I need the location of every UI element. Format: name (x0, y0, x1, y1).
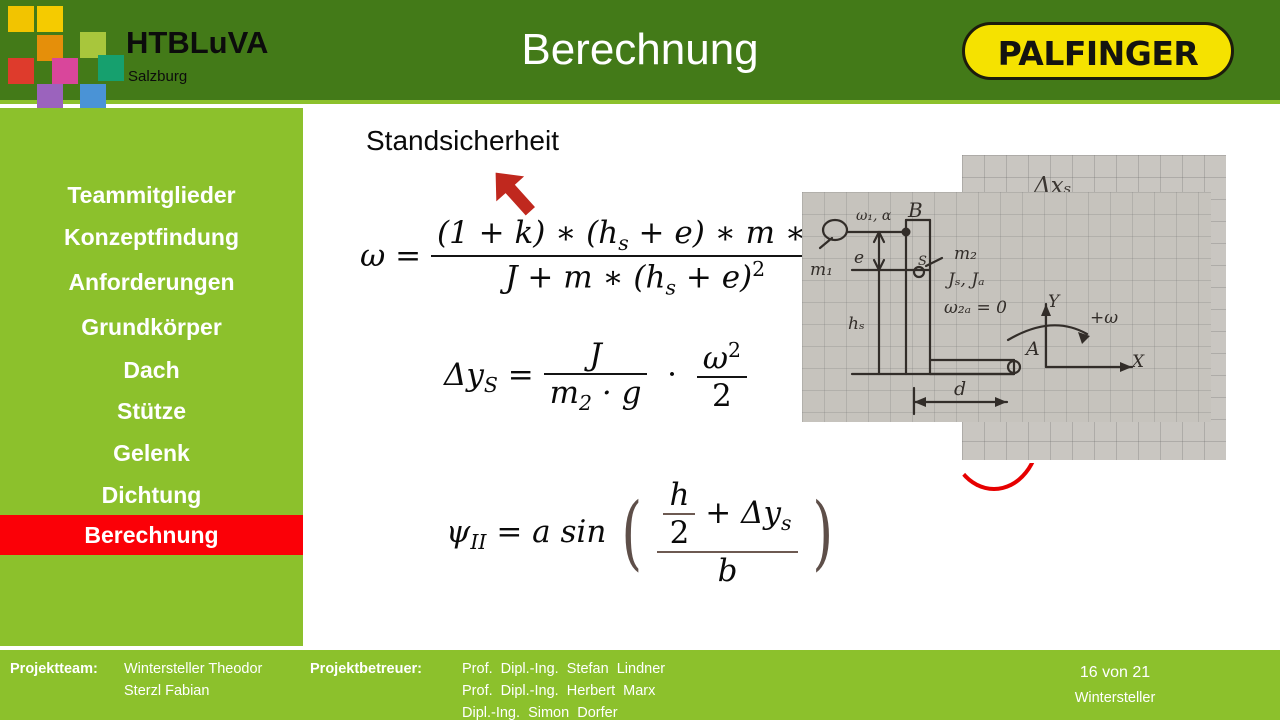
sketch-label-X: X (1132, 352, 1144, 372)
formula-omega-denominator: J + m ∗ (hs + e)2 (431, 255, 839, 300)
sketch-red-arc (947, 433, 1041, 491)
formula-delta-y-s-dot: · (657, 357, 687, 393)
sidebar-item-berechnung[interactable]: Berechnung (0, 515, 303, 555)
formula-omega-fraction: (1 + k) ∗ (hs + e) ∗ m ∗ v J + m ∗ (hs +… (431, 215, 839, 300)
supervisor-2: Prof. Dipl.-Ing. Herbert Marx (462, 680, 655, 702)
sketch-label-omega-1-alpha: ω₁, α (856, 208, 891, 224)
palfinger-logo-text: PALFINGER (965, 34, 1231, 73)
palfinger-logo: PALFINGER (962, 22, 1234, 80)
sketch-label-plus-omega: +ω (1090, 308, 1118, 328)
sidebar-item-dichtung[interactable]: Dichtung (0, 480, 303, 510)
formula-delta-y-s-numerator-2: ω2 (697, 338, 747, 376)
formula-psi-ii-two: 2 (663, 513, 695, 551)
sidebar-item-label: Gelenk (113, 440, 190, 466)
formula-omega: ω = (1 + k) ∗ (hs + e) ∗ m ∗ v J + m ∗ (… (360, 215, 839, 300)
sidebar-item-label: Dach (123, 357, 179, 383)
sidebar-item-label: Grundkörper (81, 314, 222, 340)
page-title: Berechnung (340, 24, 940, 76)
formula-psi-ii-outer-denominator: b (657, 551, 797, 589)
formula-psi-ii-inner-numerator: h 2 + Δys (657, 477, 797, 551)
sidebar-item-grundk-rper[interactable]: Grundkörper (0, 312, 303, 342)
sidebar-navigation: TeammitgliederKonzeptfindungAnforderunge… (0, 108, 303, 646)
page-number: 16 von 21 (1040, 662, 1190, 684)
formula-delta-y-s-lhs: ΔyS = (444, 357, 534, 393)
formula-delta-y-s-denominator-2: 2 (697, 376, 747, 414)
logo-square-purple (37, 84, 63, 110)
formula-delta-y-s-fraction-1: J m2 · g (544, 337, 648, 415)
sidebar-item-label: Konzeptfindung (64, 224, 239, 250)
section-heading: Standsicherheit (366, 124, 559, 158)
sketch-label-omega-2a: ω₂ₐ = 0 (944, 298, 1007, 318)
sidebar-item-konzeptfindung[interactable]: Konzeptfindung (0, 222, 303, 252)
sketch-label-Y: Y (1048, 292, 1059, 312)
formula-psi-ii: ψII = a sin ( h 2 + Δys b ) (446, 477, 839, 589)
formula-delta-y-s-denominator-1: m2 · g (544, 373, 648, 415)
sidebar-item-label: Dichtung (102, 482, 202, 508)
school-name: HTBLuVA (126, 26, 268, 60)
formula-psi-ii-paren-close: ) (813, 486, 834, 580)
projektbetreuer-label: Projektbetreuer: (310, 658, 422, 680)
sidebar-item-st-tze[interactable]: Stütze (0, 396, 303, 426)
projektteam-label: Projektteam: (10, 658, 98, 680)
formula-delta-y-s: ΔyS = J m2 · g · ω2 2 (444, 337, 747, 415)
header-underline (0, 100, 1280, 104)
sketch-label-e: e (854, 248, 864, 268)
formula-delta-y-s-numerator-1: J (544, 337, 648, 373)
htbluva-logo (8, 6, 120, 96)
sidebar-item-teammitglieder[interactable]: Teammitglieder (0, 180, 303, 210)
slide-footer: Projektteam:Wintersteller TheodorSterzl … (0, 650, 1280, 720)
team-member-2: Sterzl Fabian (124, 680, 209, 702)
formula-psi-ii-lhs: ψII = a sin (446, 514, 606, 550)
sidebar-item-label: Stütze (117, 398, 186, 424)
sketch-label-Js-Ja: Jₛ, Jₐ (948, 270, 985, 290)
sidebar-item-gelenk[interactable]: Gelenk (0, 438, 303, 468)
logo-square-magenta (52, 58, 78, 84)
formula-delta-y-s-fraction-2: ω2 2 (697, 338, 747, 414)
logo-square-red (8, 58, 34, 84)
sketch-label-m2: m₂ (954, 244, 977, 264)
logo-square-yellow-1 (8, 6, 34, 32)
formula-psi-ii-fraction-outer: h 2 + Δys b (657, 477, 797, 589)
formula-omega-numerator: (1 + k) ∗ (hs + e) ∗ m ∗ v (431, 215, 839, 255)
formula-omega-lhs: ω = (360, 238, 421, 274)
sketch-foreground-sheet: B ω₁, α m₁ e S m₂ Jₛ, Jₐ ω₂ₐ = 0 hₛ Y +ω… (802, 192, 1211, 422)
formula-psi-ii-plus-term: + Δys (705, 495, 791, 531)
supervisor-1: Prof. Dipl.-Ing. Stefan Lindner (462, 658, 665, 680)
school-location: Salzburg (128, 68, 187, 86)
sketch-label-S: S (918, 254, 927, 269)
handwritten-mechanics-sketch: Δxₛ (802, 155, 1226, 460)
sketch-label-d: d (954, 378, 966, 400)
formula-psi-ii-fraction-inner: h 2 (663, 477, 695, 551)
author-name: Wintersteller (1040, 688, 1190, 708)
formula-psi-ii-paren-open: ( (622, 486, 643, 580)
sidebar-item-label: Berechnung (84, 522, 218, 548)
sidebar-item-label: Teammitglieder (67, 182, 235, 208)
sketch-label-m1: m₁ (810, 260, 833, 280)
sketch-label-B: B (908, 198, 923, 222)
logo-square-teal (98, 55, 124, 81)
logo-square-yellow-2 (37, 6, 63, 32)
formula-psi-ii-h: h (663, 477, 695, 513)
supervisor-3: Dipl.-Ing. Simon Dorfer (462, 702, 618, 724)
sidebar-item-label: Anforderungen (68, 269, 234, 295)
sidebar-item-anforderungen[interactable]: Anforderungen (0, 267, 303, 297)
sidebar-item-dach[interactable]: Dach (0, 355, 303, 385)
team-member-1: Wintersteller Theodor (124, 658, 262, 680)
sketch-label-hs: hₛ (848, 314, 865, 334)
sketch-label-A: A (1026, 338, 1040, 360)
logo-square-blue (80, 84, 106, 110)
